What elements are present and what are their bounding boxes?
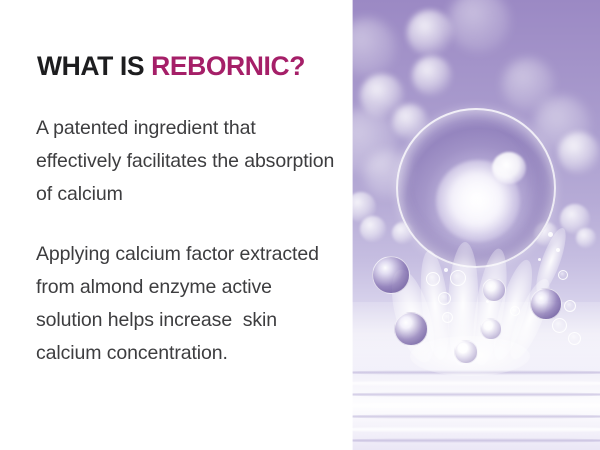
small-bubble bbox=[394, 312, 428, 346]
small-bubble bbox=[372, 256, 410, 294]
small-bubble-layer bbox=[352, 0, 600, 450]
body-paragraph-1: A patented ingredient that effectively f… bbox=[36, 112, 336, 211]
small-bubble bbox=[510, 306, 520, 316]
small-bubble bbox=[568, 332, 581, 345]
title-highlight: REBORNIC? bbox=[151, 51, 305, 81]
small-bubble bbox=[564, 300, 576, 312]
small-bubble bbox=[530, 288, 562, 320]
small-bubble bbox=[426, 272, 440, 286]
page-title: WHAT IS REBORNIC? bbox=[37, 52, 305, 82]
small-bubble bbox=[442, 312, 453, 323]
bubble-photo-panel bbox=[352, 0, 600, 450]
text-panel: WHAT IS REBORNIC? A patented ingredient … bbox=[0, 0, 352, 450]
title-lead: WHAT IS bbox=[37, 51, 151, 81]
small-bubble bbox=[558, 270, 568, 280]
small-bubble bbox=[438, 292, 451, 305]
body-paragraph-2: Applying calcium factor extracted from a… bbox=[36, 238, 336, 370]
small-bubble bbox=[480, 318, 502, 340]
slide-canvas: WHAT IS REBORNIC? A patented ingredient … bbox=[0, 0, 600, 450]
small-bubble bbox=[450, 270, 466, 286]
small-bubble bbox=[482, 278, 506, 302]
small-bubble bbox=[552, 318, 567, 333]
small-bubble bbox=[454, 340, 478, 364]
